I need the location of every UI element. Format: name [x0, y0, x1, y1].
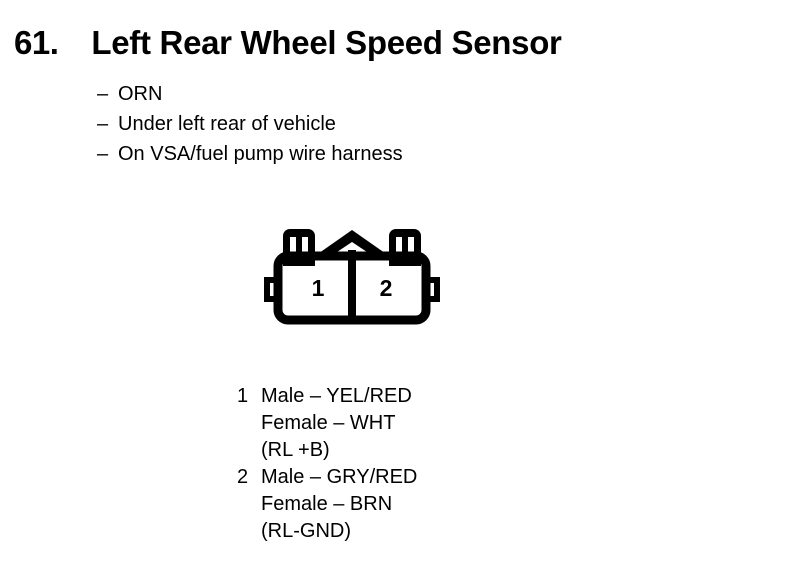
pin-index: 1 — [237, 383, 261, 410]
dash-icon: – — [97, 139, 118, 169]
cavity-number-1: 1 — [312, 275, 325, 301]
note-label: On VSA/fuel pump wire harness — [118, 139, 403, 169]
pin-legend-entry: 1 Male – YEL/RED Female – WHT (RL +B) — [237, 383, 417, 464]
pin-detail-line: Female – BRN — [261, 491, 417, 518]
note-item: – On VSA/fuel pump wire harness — [97, 139, 403, 169]
note-label: Under left rear of vehicle — [118, 109, 336, 139]
notes-list: – ORN – Under left rear of vehicle – On … — [97, 79, 403, 169]
connector-drawing: 1 2 — [252, 222, 452, 332]
pin-detail-line: (RL +B) — [261, 437, 412, 464]
pin-detail-line: Male – YEL/RED — [261, 383, 412, 410]
cavity-divider — [348, 256, 356, 320]
cavity-number-2: 2 — [380, 275, 393, 301]
note-label: ORN — [118, 79, 162, 109]
section-number: 61. — [14, 26, 58, 59]
dash-icon: – — [97, 79, 118, 109]
pin-detail-line: Female – WHT — [261, 410, 412, 437]
note-item: – ORN — [97, 79, 403, 109]
pin-legend: 1 Male – YEL/RED Female – WHT (RL +B) 2 … — [237, 383, 417, 545]
pin-legend-entry: 2 Male – GRY/RED Female – BRN (RL-GND) — [237, 464, 417, 545]
dash-icon: – — [97, 109, 118, 139]
section-title: Left Rear Wheel Speed Sensor — [91, 26, 561, 59]
pin-detail-line: (RL-GND) — [261, 518, 417, 545]
page-canvas: 61. Left Rear Wheel Speed Sensor – ORN –… — [0, 0, 800, 568]
page-title: 61. Left Rear Wheel Speed Sensor — [14, 26, 562, 59]
pin-index: 2 — [237, 464, 261, 491]
note-item: – Under left rear of vehicle — [97, 109, 403, 139]
connector-diagram: 1 2 — [252, 222, 452, 332]
pin-detail-lines: Male – GRY/RED Female – BRN (RL-GND) — [261, 464, 417, 545]
pin-detail-line: Male – GRY/RED — [261, 464, 417, 491]
pin-detail-lines: Male – YEL/RED Female – WHT (RL +B) — [261, 383, 412, 464]
